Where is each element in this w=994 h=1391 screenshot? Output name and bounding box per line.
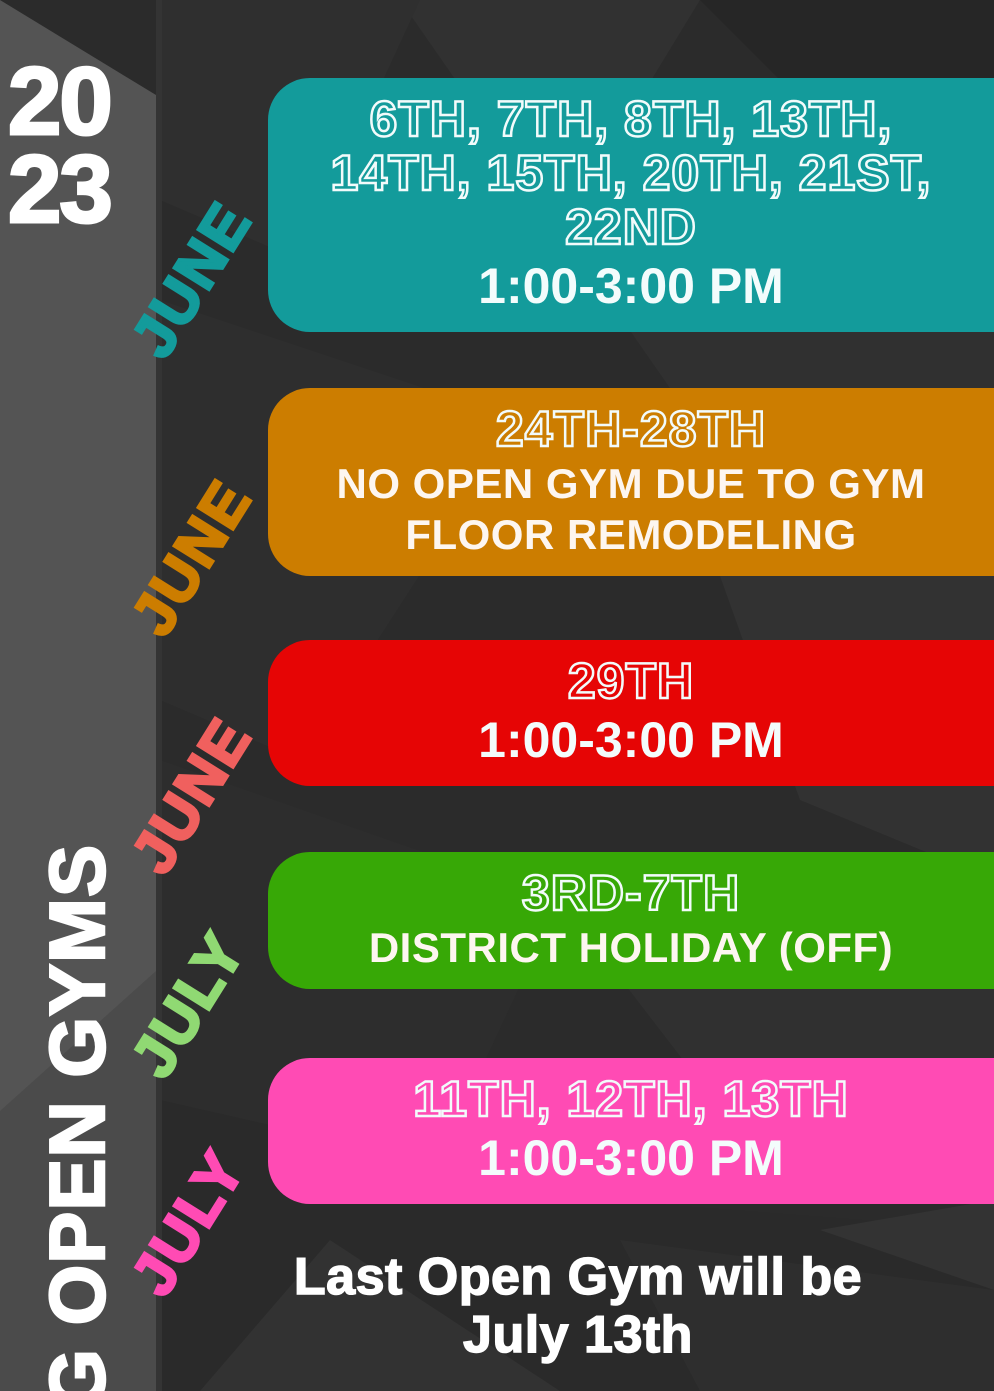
schedule-card-june-regular[interactable]: 6TH, 7TH, 8TH, 13TH, 14TH, 15TH, 20TH, 2… xyxy=(268,78,994,332)
schedule-row-4[interactable]: 3RD-7TH DISTRICT HOLIDAY (OFF) xyxy=(268,852,994,989)
footer-note: Last Open Gym will be July 13th xyxy=(162,1248,994,1364)
schedule-card-june-closed[interactable]: 24TH-28TH NO OPEN GYM DUE TO GYM FLOOR R… xyxy=(268,388,994,576)
card-dates: 6TH, 7TH, 8TH, 13TH, 14TH, 15TH, 20TH, 2… xyxy=(294,92,968,254)
card-dates: 11TH, 12TH, 13TH xyxy=(294,1072,968,1126)
schedule-row-5[interactable]: 11TH, 12TH, 13TH 1:00-3:00 PM xyxy=(268,1058,994,1204)
year-line-2: 23 xyxy=(8,146,148,234)
schedule-row-2[interactable]: 24TH-28TH NO OPEN GYM DUE TO GYM FLOOR R… xyxy=(268,388,994,576)
card-time: 1:00-3:00 PM xyxy=(294,258,968,316)
card-dates: 29TH xyxy=(294,654,968,708)
card-time: 1:00-3:00 PM xyxy=(294,712,968,770)
rail-divider xyxy=(156,0,162,1391)
year-line-1: 20 xyxy=(8,58,148,146)
poster-root: 20 23 UPCOMING OPEN GYMS 6TH, 7TH, 8TH, … xyxy=(0,0,994,1391)
card-note: DISTRICT HOLIDAY (OFF) xyxy=(294,922,968,973)
schedule-card-july-holiday[interactable]: 3RD-7TH DISTRICT HOLIDAY (OFF) xyxy=(268,852,994,989)
footer-line-1: Last Open Gym will be xyxy=(162,1248,994,1306)
card-note: NO OPEN GYM DUE TO GYM FLOOR REMODELING xyxy=(294,458,968,560)
schedule-card-july-final[interactable]: 11TH, 12TH, 13TH 1:00-3:00 PM xyxy=(268,1058,994,1204)
footer-line-2: July 13th xyxy=(162,1306,994,1364)
vertical-title: UPCOMING OPEN GYMS xyxy=(33,844,124,1391)
card-time: 1:00-3:00 PM xyxy=(294,1130,968,1188)
schedule-card-june-29[interactable]: 29TH 1:00-3:00 PM xyxy=(268,640,994,786)
schedule-row-1[interactable]: 6TH, 7TH, 8TH, 13TH, 14TH, 15TH, 20TH, 2… xyxy=(268,78,994,332)
year-block: 20 23 xyxy=(8,58,148,235)
schedule-row-3[interactable]: 29TH 1:00-3:00 PM xyxy=(268,640,994,786)
card-dates: 24TH-28TH xyxy=(294,402,968,456)
card-dates: 3RD-7TH xyxy=(294,866,968,920)
